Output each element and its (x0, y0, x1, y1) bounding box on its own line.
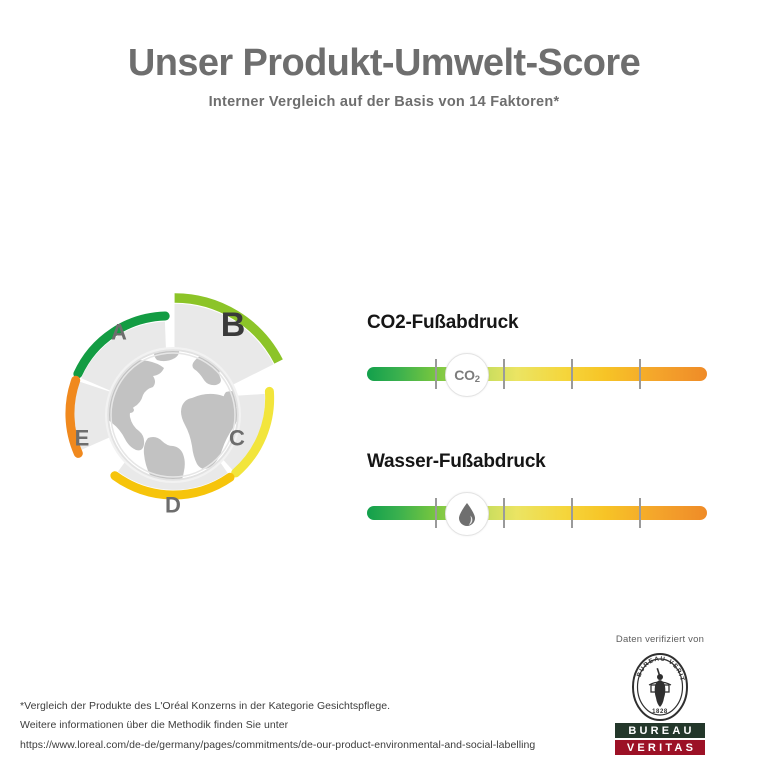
wheel-letter-c: C (229, 426, 245, 451)
water-scale-tick-1 (435, 498, 437, 528)
footnote-line-2: Weitere informationen über die Methodik … (20, 716, 620, 735)
page-title: Unser Produkt-Umwelt-Score (0, 44, 768, 84)
verified-by-label: Daten verifiziert von (584, 634, 736, 645)
footnote: *Vergleich der Produkte des L'Oréal Konz… (20, 697, 620, 755)
water-scale-tick-3 (571, 498, 573, 528)
wheel-letter-b: B (221, 306, 246, 344)
score-wheel: A B C D E (40, 232, 320, 522)
co2-scale-tick-2 (503, 359, 505, 389)
co2-footprint-scale: CO2 (367, 354, 707, 394)
water-scale-tick-4 (639, 498, 641, 528)
co2-scale-tick-4 (639, 359, 641, 389)
water-footprint-scale (367, 493, 707, 533)
wheel-letter-a: A (111, 320, 127, 345)
svg-text:1828: 1828 (652, 709, 668, 715)
water-scale-tick-2 (503, 498, 505, 528)
co2-footprint-label: CO2-Fußabdruck (367, 312, 712, 334)
co2-footprint-block: CO2-Fußabdruck CO2 (367, 312, 712, 394)
page-subtitle: Interner Vergleich auf der Basis von 14 … (0, 94, 768, 110)
wheel-letter-d: D (165, 493, 181, 518)
water-scale-marker (445, 492, 489, 536)
footnote-line-1: *Vergleich der Produkte des L'Oréal Konz… (20, 697, 620, 716)
bureau-veritas-wordmark-bureau: BUREAU (615, 723, 705, 738)
water-scale-gradient-bar (367, 506, 707, 520)
footprint-section: CO2-Fußabdruck CO2 Wasser-Fußabdruck (367, 312, 712, 533)
water-footprint-label: Wasser-Fußabdruck (367, 451, 712, 473)
bureau-veritas-wordmark-veritas: VERITAS (615, 740, 705, 755)
bureau-veritas-logo: BUREAU VERITAS 1828 BUREAU VERITAS (615, 652, 705, 755)
co2-scale-tick-1 (435, 359, 437, 389)
header: Unser Produkt-Umwelt-Score Interner Verg… (0, 44, 768, 110)
co2-scale-tick-3 (571, 359, 573, 389)
co2-scale-marker: CO2 (445, 353, 489, 397)
bureau-veritas-seal-icon: BUREAU VERITAS 1828 (631, 652, 689, 722)
co2-icon: CO2 (454, 367, 479, 383)
wheel-letter-e: E (75, 426, 90, 451)
water-drop-icon (457, 502, 477, 526)
footnote-line-3-url[interactable]: https://www.loreal.com/de-de/germany/pag… (20, 736, 620, 755)
water-footprint-block: Wasser-Fußabdruck (367, 451, 712, 533)
co2-scale-gradient-bar (367, 367, 707, 381)
